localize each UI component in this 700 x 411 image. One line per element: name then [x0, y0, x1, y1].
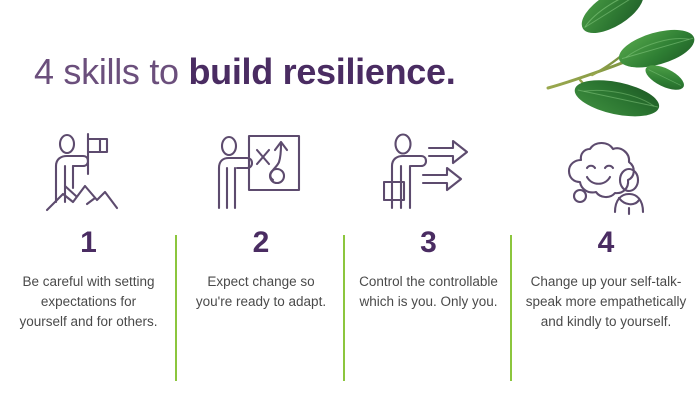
leaf-sprig-photo	[540, 0, 700, 118]
page-title-bold: build resilience.	[188, 51, 455, 92]
skill-number: 1	[80, 228, 97, 258]
skill-column-3: 3 Control the controllable which is you.…	[345, 126, 512, 332]
skill-column-4: 4 Change up your self-talk- speak more e…	[512, 126, 700, 332]
skill-number: 3	[420, 228, 437, 258]
person-arrows-icon	[383, 126, 475, 222]
skill-column-1: 1 Be careful with setting expectations f…	[0, 126, 177, 332]
skill-number: 2	[253, 228, 270, 258]
page-title-light: 4 skills to	[34, 51, 188, 92]
skill-description: Be careful with setting expectations for…	[16, 272, 161, 332]
page-title: 4 skills to build resilience.	[34, 50, 455, 94]
skill-column-2: 2 Expect change so you're ready to adapt…	[177, 126, 345, 332]
skill-description: Expect change so you're ready to adapt.	[191, 272, 331, 312]
mountain-flag-icon	[43, 126, 135, 222]
skill-description: Control the controllable which is you. O…	[359, 272, 499, 312]
thought-bubble-smile-icon	[557, 126, 655, 222]
skill-number: 4	[598, 228, 615, 258]
skill-description: Change up your self-talk- speak more emp…	[520, 272, 692, 332]
strategy-board-icon	[215, 126, 307, 222]
skills-columns: 1 Be careful with setting expectations f…	[0, 126, 700, 332]
